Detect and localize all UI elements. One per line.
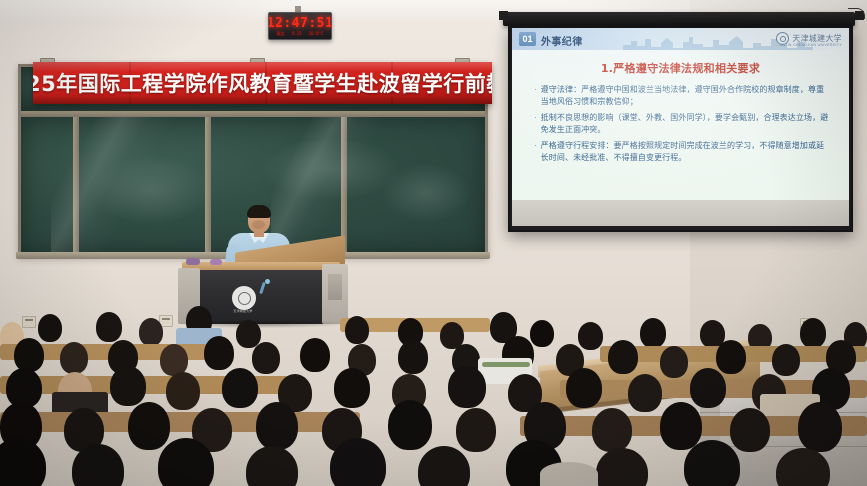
chalk-smudge xyxy=(381,163,471,223)
audience-head xyxy=(530,320,554,347)
slide-section-title: 外事纪律 xyxy=(541,33,583,48)
podium-item xyxy=(210,259,222,265)
clock-secondary-row: 周五 9.21 26.8°C xyxy=(273,31,327,37)
desk-row xyxy=(0,412,360,432)
audience-head xyxy=(800,318,826,348)
presenter-hair xyxy=(247,205,271,218)
audience-head xyxy=(14,338,44,372)
projection-screen-roller xyxy=(503,12,855,26)
presenter-face-shading xyxy=(252,220,265,229)
audience-head xyxy=(204,336,234,370)
audience-head xyxy=(772,344,800,376)
microphone-head-icon xyxy=(265,279,270,284)
clock-time: 12:47:51 xyxy=(268,16,332,31)
audience-head xyxy=(38,314,62,342)
roller-cap-left xyxy=(499,11,508,20)
slide-title: 1.严格遵守法律法规和相关要求 xyxy=(512,60,849,76)
audience-head xyxy=(716,340,746,374)
list-item: · 遵守法律：严格遵守中国和波兰当地法律，遵守国外合作院校的规章制度，尊重当地风… xyxy=(534,84,830,107)
chalk-smudge xyxy=(91,155,211,225)
audience-head xyxy=(256,402,298,450)
audience-head xyxy=(139,318,163,346)
roller-wire xyxy=(848,8,865,19)
audience-head xyxy=(345,316,369,344)
audience-head xyxy=(166,372,200,410)
audience-head xyxy=(110,366,146,406)
bullet-marker-icon: · xyxy=(534,112,537,135)
bullet-text: 抵制不良思想的影响（课堂、外教、国外同学），要学会甄别，合理表达立场，避免发生正… xyxy=(541,112,830,135)
audience-head xyxy=(578,322,603,350)
audience-head xyxy=(660,346,688,378)
audience-head xyxy=(730,408,770,452)
chalk-smudge xyxy=(261,137,401,201)
university-name-english: TIANJIN CHENGJIAN UNIVERSITY xyxy=(776,43,842,47)
audience-head xyxy=(60,342,88,374)
audience-head xyxy=(660,402,702,450)
audience-head xyxy=(398,340,428,374)
bullet-marker-icon: · xyxy=(534,84,537,107)
university-emblem-text: 天津城建大学 xyxy=(230,309,256,313)
podium-item xyxy=(186,258,200,265)
bullet-marker-icon: · xyxy=(534,140,537,163)
audience-head xyxy=(690,368,726,408)
bullet-text: 严格遵守行程安排：要严格按照规定时间完成在波兰的学习，不得随意增加或延长时间、未… xyxy=(541,140,830,163)
audience-head xyxy=(96,312,122,342)
clock-date: 9.21 xyxy=(292,31,302,37)
audience-head xyxy=(592,408,632,452)
bullet-text: 遵守法律：严格遵守中国和波兰当地法律，遵守国外合作院校的规章制度，尊重当地风俗习… xyxy=(541,84,830,107)
audience-head xyxy=(300,338,330,372)
event-banner: 2025年国际工程学院作风教育暨学生赴波留学行前教育 xyxy=(33,62,492,104)
podium-control-panel[interactable] xyxy=(328,274,342,300)
audience-head xyxy=(628,374,662,412)
audience-head xyxy=(448,366,486,408)
event-banner-text: 2025年国际工程学院作风教育暨学生赴波留学行前教育 xyxy=(33,68,492,98)
audience-head xyxy=(798,402,842,452)
university-emblem xyxy=(232,286,256,310)
audience-head xyxy=(388,400,432,450)
clock-weekday: 周五 xyxy=(277,31,285,37)
slide-section-badge: 01 xyxy=(519,32,536,46)
audience-head xyxy=(128,402,170,450)
audience-head xyxy=(252,342,280,374)
projection-screen-blank-area xyxy=(512,200,849,226)
list-item: · 抵制不良思想的影响（课堂、外教、国外同学），要学会甄别，合理表达立场，避免发… xyxy=(534,112,830,135)
audience-head xyxy=(456,408,496,452)
slide-bullet-list: · 遵守法律：严格遵守中国和波兰当地法律，遵守国外合作院校的规章制度，尊重当地风… xyxy=(534,84,830,168)
audience-head xyxy=(566,368,602,408)
lecture-hall-photo: 2025年国际工程学院作风教育暨学生赴波留学行前教育 12:47:51 周五 9… xyxy=(0,0,867,486)
clock-temperature: 26.8°C xyxy=(309,31,323,37)
audience-head xyxy=(608,340,638,374)
shirt-stripe xyxy=(482,362,530,367)
slide-header-bar: 01 外事纪律 天津城建大学 TIANJIN CHENGJIAN UNIVERS… xyxy=(512,28,849,50)
led-wall-clock: 12:47:51 周五 9.21 26.8°C xyxy=(268,12,332,40)
audience-head xyxy=(334,368,370,408)
audience-head xyxy=(222,368,258,408)
projected-slide: 01 外事纪律 天津城建大学 TIANJIN CHENGJIAN UNIVERS… xyxy=(512,28,849,200)
audience-head xyxy=(640,318,666,348)
list-item: · 严格遵守行程安排：要严格按照规定时间完成在波兰的学习，不得随意增加或延长时间… xyxy=(534,140,830,163)
wall-power-outlet xyxy=(22,316,36,328)
clock-display: 12:47:51 xyxy=(272,16,328,30)
hair-tie xyxy=(540,462,598,486)
